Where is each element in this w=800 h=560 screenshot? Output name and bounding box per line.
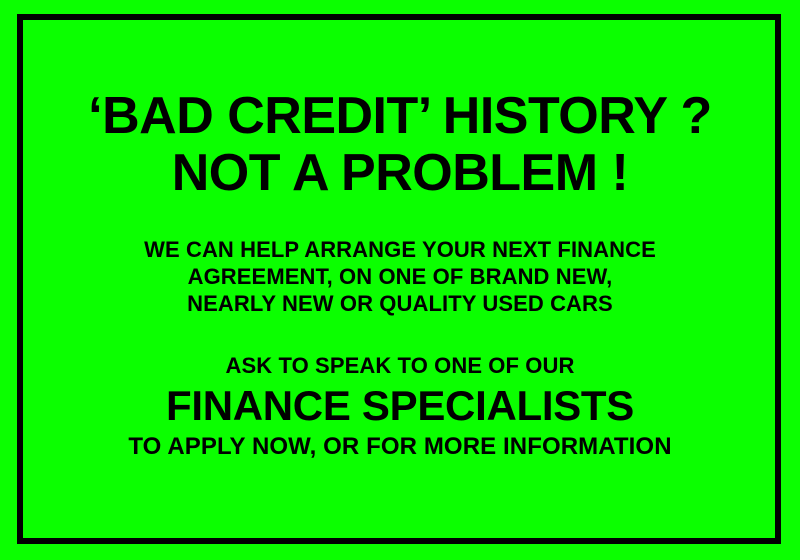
advertisement-poster: ‘BAD CREDIT’ HISTORY ? NOT A PROBLEM ! W…	[0, 0, 800, 560]
poster-text-content: ‘BAD CREDIT’ HISTORY ? NOT A PROBLEM ! W…	[0, 0, 800, 560]
callout-lead-line: ASK TO SPEAK TO ONE OF OUR	[0, 352, 800, 380]
headline-line-2: NOT A PROBLEM !	[0, 145, 800, 202]
callout-tail-line: TO APPLY NOW, OR FOR MORE INFORMATION	[0, 432, 800, 462]
callout-block: ASK TO SPEAK TO ONE OF OUR FINANCE SPECI…	[0, 352, 800, 462]
headline-line-1: ‘BAD CREDIT’ HISTORY ?	[0, 88, 800, 145]
body-line-3: NEARLY NEW OR QUALITY USED CARS	[0, 290, 800, 317]
callout-main-heading: FINANCE SPECIALISTS	[0, 380, 800, 432]
body-line-2: AGREEMENT, ON ONE OF BRAND NEW,	[0, 263, 800, 290]
headline-block: ‘BAD CREDIT’ HISTORY ? NOT A PROBLEM !	[0, 88, 800, 202]
body-line-1: WE CAN HELP ARRANGE YOUR NEXT FINANCE	[0, 236, 800, 263]
body-paragraph: WE CAN HELP ARRANGE YOUR NEXT FINANCE AG…	[0, 236, 800, 317]
